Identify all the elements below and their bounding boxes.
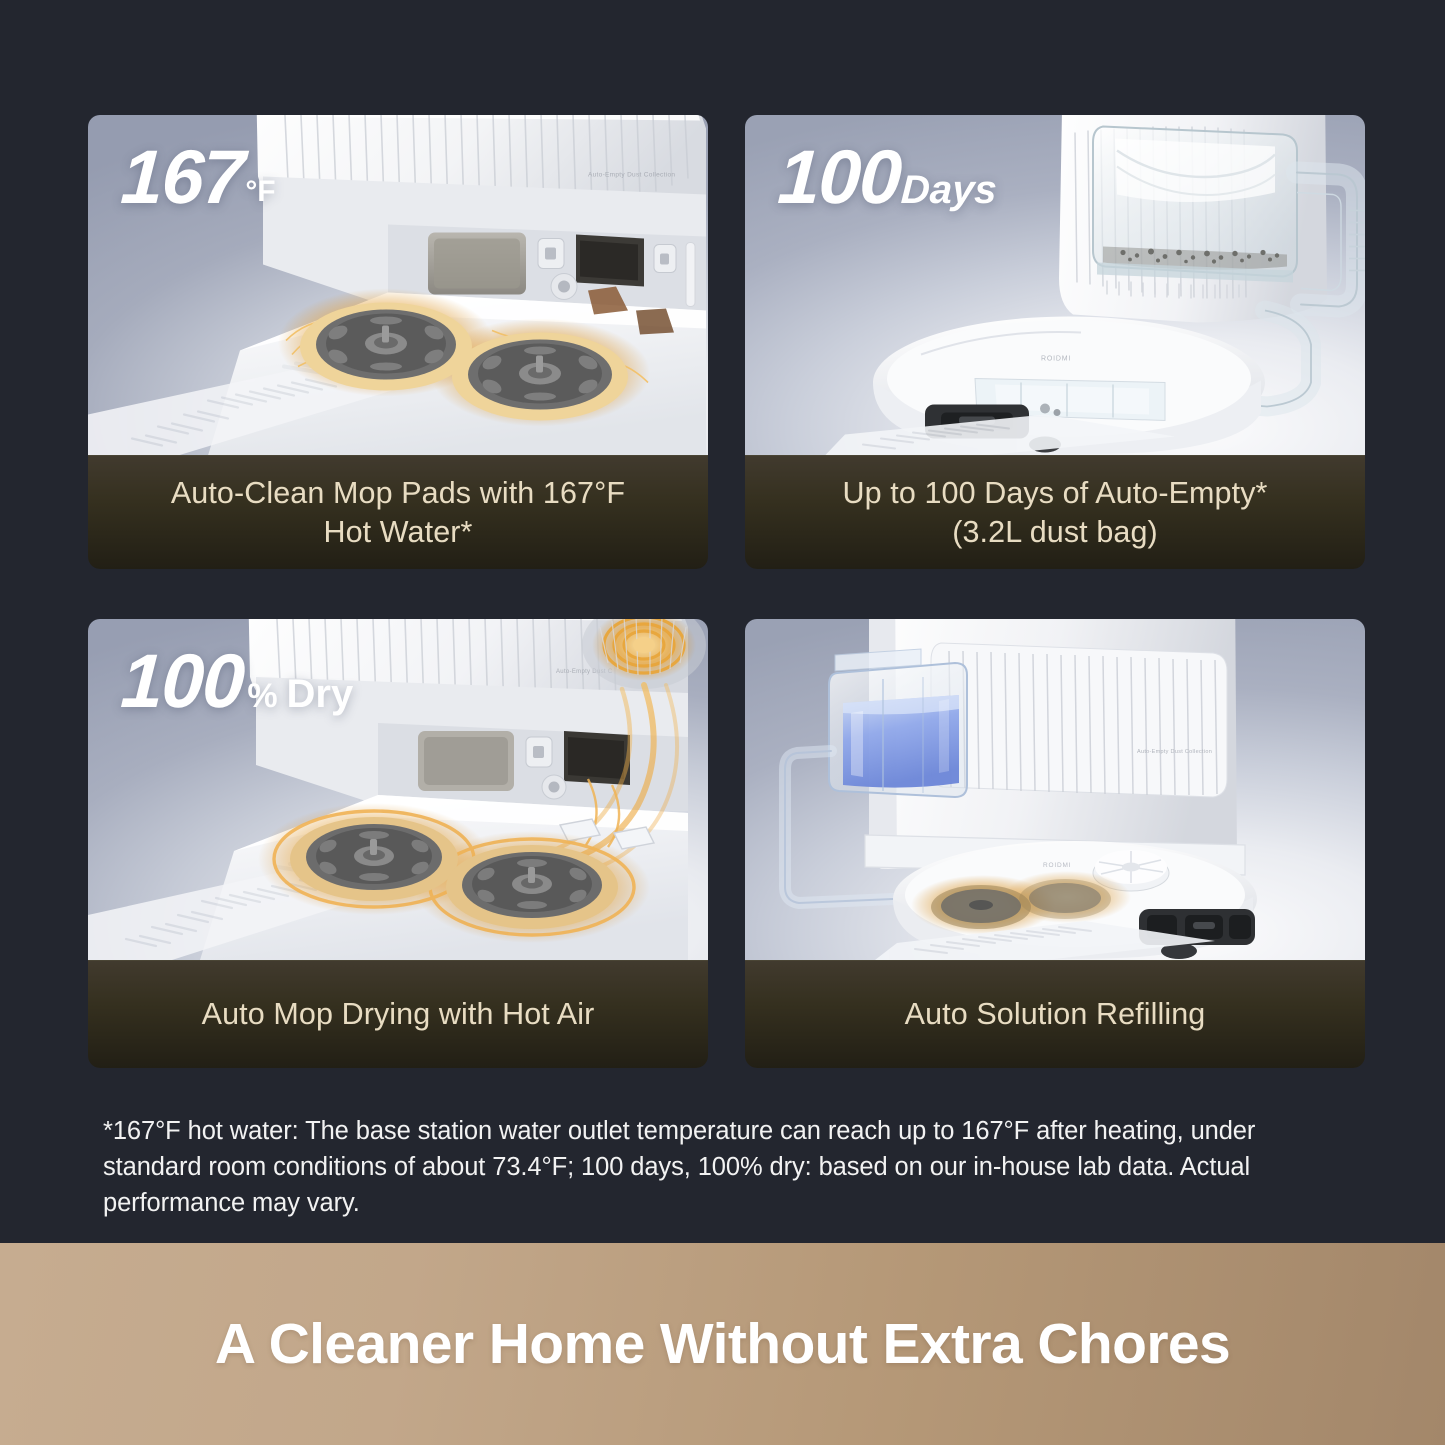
caption-text-block: Up to 100 Days of Auto-Empty* (3.2L dust… <box>842 474 1267 551</box>
caption-text-block: Auto-Clean Mop Pads with 167°F Hot Water… <box>171 474 625 551</box>
stat-value: 167 <box>119 140 245 216</box>
panel-caption-bar: Auto-Clean Mop Pads with 167°F Hot Water… <box>88 455 708 569</box>
caption-line-1: Auto Mop Drying with Hot Air <box>202 997 595 1031</box>
product-scene-mop-washing: Auto-Empty Dust Collection <box>88 115 708 455</box>
caption-line-1: Auto Solution Refilling <box>905 997 1206 1031</box>
stat-suffix: Days <box>900 170 998 210</box>
device-label-text: Auto-Empty Dust Collection <box>1137 749 1212 755</box>
feature-panel-grid: Auto-Empty Dust Collection <box>88 115 1365 1068</box>
caption-line-2: (3.2L dust bag) <box>952 515 1158 549</box>
caption-line-1: Auto-Clean Mop Pads with 167°F <box>171 476 625 510</box>
banner-headline: A Cleaner Home Without Extra Chores <box>215 1311 1230 1377</box>
caption-text-block: Auto Solution Refilling <box>905 995 1206 1033</box>
stat-overlay-temperature: 167 °F <box>121 140 276 216</box>
solution-tank-refilling-illustration: Auto-Empty Dust Collection <box>745 619 1365 960</box>
footnote-line-1: *167°F hot water: The base station water… <box>103 1117 1184 1145</box>
panel-caption-bar: Up to 100 Days of Auto-Empty* (3.2L dust… <box>745 455 1365 569</box>
panel-caption-bar: Auto Solution Refilling <box>745 960 1365 1068</box>
product-scene-solution-refilling: Auto-Empty Dust Collection <box>745 619 1365 960</box>
feature-panel-auto-mop-drying[interactable]: Auto-Empty Dust C <box>88 619 708 1068</box>
stat-value: 100 <box>119 644 245 720</box>
stat-overlay-days: 100 Days <box>778 140 997 216</box>
caption-text-block: Auto Mop Drying with Hot Air <box>202 995 595 1033</box>
product-scene-hot-air-drying: Auto-Empty Dust C <box>88 619 708 960</box>
product-scene-dust-bag-auto-empty: ROIDMI <box>745 115 1365 455</box>
caption-line-1: Up to 100 Days of Auto-Empty* <box>842 476 1267 510</box>
feature-panel-auto-solution-refilling[interactable]: Auto-Empty Dust Collection <box>745 619 1365 1068</box>
stat-unit: °F <box>245 177 275 207</box>
stat-value: 100 <box>776 140 902 216</box>
device-label-text: Auto-Empty Dust Collection <box>588 172 675 179</box>
panel-caption-bar: Auto Mop Drying with Hot Air <box>88 960 708 1068</box>
disclaimer-footnote: *167°F hot water: The base station water… <box>103 1113 1348 1222</box>
bottom-banner: A Cleaner Home Without Extra Chores <box>0 1243 1445 1445</box>
stat-unit: % <box>247 679 277 713</box>
svg-text:ROIDMI: ROIDMI <box>1043 862 1071 869</box>
stat-suffix: Dry <box>287 674 354 714</box>
caption-line-2: Hot Water* <box>323 515 472 549</box>
svg-text:ROIDMI: ROIDMI <box>1041 356 1071 363</box>
stat-overlay-dryness: 100 % Dry <box>121 644 353 720</box>
feature-panel-auto-empty-100-days[interactable]: ROIDMI <box>745 115 1365 569</box>
feature-panel-auto-clean-mop-pads[interactable]: Auto-Empty Dust Collection <box>88 115 708 569</box>
